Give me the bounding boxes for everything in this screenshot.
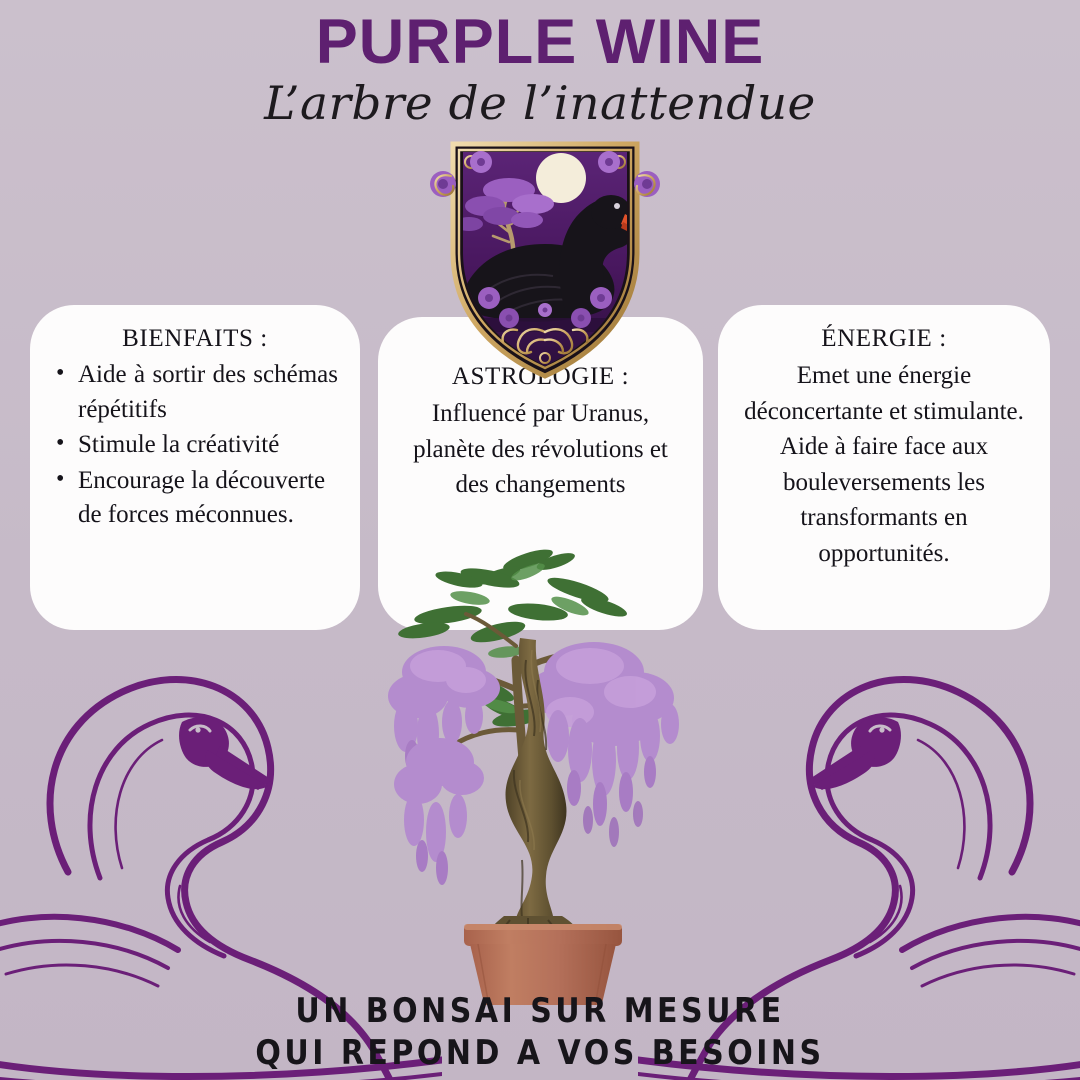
page-title: PURPLE WINE — [0, 0, 1080, 76]
tagline-line-2: QUI REPOND A VOS BESOINS — [0, 1030, 1080, 1076]
poster-header: PURPLE WINE L’arbre de l’inattendue — [0, 0, 1080, 130]
page-subtitle: L’arbre de l’inattendue — [0, 78, 1080, 130]
card-bienfaits-list: Aide à sortir des schémas répétitifs Sti… — [52, 358, 338, 533]
card-energie-body: Emet une énergie déconcertante et stimul… — [740, 358, 1028, 571]
card-energie-heading: ÉNERGIE : — [740, 323, 1028, 354]
poster-canvas: PURPLE WINE L’arbre de l’inattendue BIEN… — [0, 0, 1080, 1080]
list-item: Stimule la créativité — [52, 428, 338, 463]
list-item: Aide à sortir des schémas répétitifs — [52, 358, 338, 427]
card-astrologie-body: Influencé par Uranus, planète des révolu… — [400, 396, 681, 503]
black-swan-crest-icon — [405, 132, 685, 380]
tagline-line-1: UN BONSAI SUR MESURE — [0, 989, 1080, 1035]
card-bienfaits-heading: BIENFAITS : — [52, 323, 338, 354]
list-item: Encourage la découverte de forces méconn… — [52, 464, 338, 533]
card-bienfaits: BIENFAITS : Aide à sortir des schémas ré… — [30, 305, 360, 630]
card-energie: ÉNERGIE : Emet une énergie déconcertante… — [718, 305, 1050, 630]
footer-tagline: UN BONSAI SUR MESURE QUI REPOND A VOS BE… — [0, 991, 1080, 1074]
